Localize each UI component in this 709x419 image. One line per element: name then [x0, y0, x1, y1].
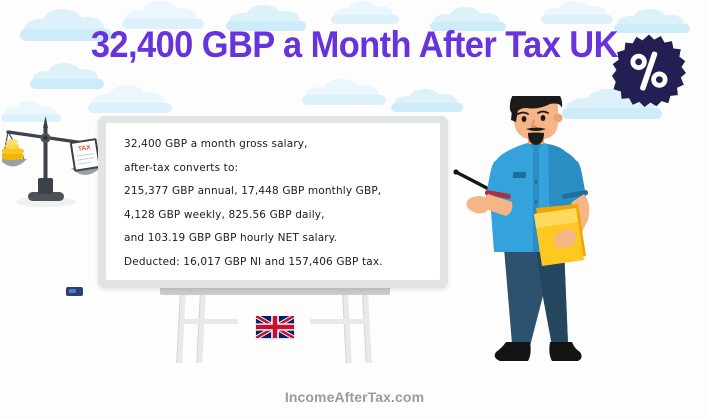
easel-leg: [362, 295, 372, 363]
cloud-lobe: [109, 85, 146, 108]
cloud-lobe: [409, 89, 440, 108]
percent-badge-icon: [612, 33, 686, 107]
easel-leg: [342, 295, 352, 363]
scale-pan-right: TAX: [70, 138, 101, 175]
cloud-lobe: [394, 96, 419, 111]
balance-scale-icon: TAX: [2, 112, 106, 212]
whiteboard: 32,400 GBP a month gross salary, after-t…: [98, 116, 448, 288]
cloud-lobe: [135, 92, 165, 111]
easel-crossbar: [180, 319, 238, 324]
shoe-right: [549, 342, 581, 361]
cloud-shape: [86, 84, 174, 114]
cloud-lobe: [581, 6, 606, 21]
cloud-lobe: [30, 79, 105, 89]
uk-union-jack-flag: [256, 316, 294, 338]
easel-leg: [196, 295, 206, 363]
cloud-shape: [330, 0, 400, 24]
cloud-lobe: [331, 15, 398, 24]
whiteboard-text-block: 32,400 GBP a month gross salary, after-t…: [124, 133, 432, 274]
cloud-lobe: [369, 6, 393, 21]
whiteboard-line-6: Deducted: 16,017 GBP NI and 157,406 GBP …: [124, 251, 432, 275]
whiteboard-line-2: after-tax converts to:: [124, 157, 432, 181]
scale-pan-left: [2, 132, 27, 167]
poster-canvas: 32,400 GBP a Month After Tax UK: [0, 0, 709, 419]
cloud-shape: [540, 0, 614, 24]
eye-right: [541, 115, 546, 121]
shoe-left: [495, 342, 531, 361]
hand-left: [466, 196, 489, 214]
page-title: 32,400 GBP a Month After Tax UK: [91, 24, 618, 66]
cloud-lobe: [48, 63, 81, 85]
cloud-lobe: [334, 8, 358, 23]
eye-left: [522, 116, 527, 122]
cloud-lobe: [349, 85, 379, 103]
whiteboard-line-5: and 103.19 GBP GBP hourly NET salary.: [124, 227, 432, 251]
scale-finial: [43, 116, 48, 128]
ear: [554, 114, 563, 123]
cloud-lobe: [91, 94, 121, 113]
cloud-lobe: [559, 1, 590, 20]
whiteboard-marker: [66, 287, 83, 296]
whiteboard-line-4: 4,128 GBP weekly, 825.56 GBP daily,: [124, 204, 432, 228]
cloud-shape: [300, 78, 388, 106]
whiteboard-line-3: 215,377 GBP annual, 17,448 GBP monthly G…: [124, 180, 432, 204]
whiteboard-surface: 32,400 GBP a month gross salary, after-t…: [106, 123, 440, 280]
scale-beam: [8, 132, 84, 143]
easel-crossbar: [310, 319, 368, 324]
tax-document: TAX: [70, 138, 101, 172]
scale-base-top: [38, 178, 53, 194]
cloud-lobe: [323, 79, 360, 101]
gold-coins: [2, 139, 24, 160]
cloud-lobe: [544, 8, 569, 23]
cloud-shape: [28, 62, 106, 90]
cloud-lobe: [33, 71, 60, 88]
cloud-lobe: [142, 1, 178, 24]
whiteboard-line-1: 32,400 GBP a month gross salary,: [124, 133, 432, 157]
cloud-lobe: [305, 87, 335, 104]
cloud-lobe: [541, 15, 612, 24]
footer-site-name: IncomeAfterTax.com: [0, 389, 709, 405]
teacher-character: [452, 96, 652, 392]
page-title-container: 32,400 GBP a Month After Tax UK: [0, 24, 709, 66]
easel-leg: [176, 295, 186, 363]
cloud-lobe: [348, 1, 377, 20]
cloud-lobe: [72, 69, 99, 87]
cloud-lobe: [302, 95, 386, 105]
